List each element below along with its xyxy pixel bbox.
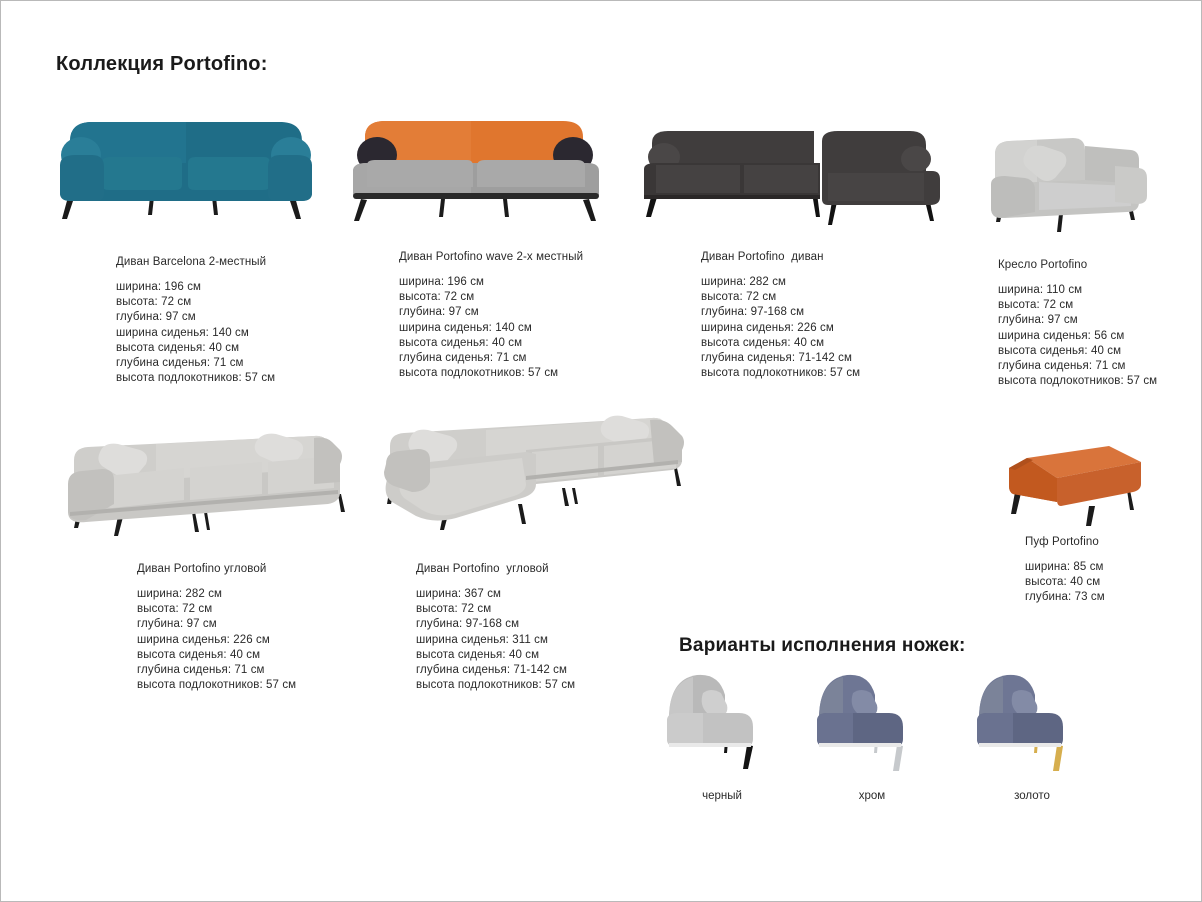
spec-depth: глубина: 97 см [998, 313, 1198, 328]
spec-armrest-height: высота подлокотников: 57 см [998, 374, 1198, 389]
legs-section-title: Варианты исполнения ножек: [679, 635, 966, 657]
product-specs: ширина: 282 см высота: 72 см глубина: 97… [137, 587, 402, 693]
spec-seat-depth: глубина сиденья: 71 см [116, 356, 381, 371]
spec-armrest-height: высота подлокотников: 57 см [137, 678, 402, 693]
product-name: Диван Barcelona 2-местный [116, 256, 381, 268]
spec-height: высота: 72 см [998, 298, 1198, 313]
spec-seat-height: высота сиденья: 40 см [701, 336, 971, 351]
spec-seat-height: высота сиденья: 40 см [116, 341, 381, 356]
spec-depth: глубина: 73 см [1025, 590, 1200, 605]
spec-seat-depth: глубина сиденья: 71 см [998, 359, 1198, 374]
product-card-barcelona-2: Диван Barcelona 2-местный ширина: 196 см… [116, 256, 381, 386]
product-card-portofino-uglovoy-367: Диван Portofino угловой ширина: 367 см в… [416, 563, 681, 693]
page-title: Коллекция Portofino: [56, 53, 268, 76]
spec-depth: глубина: 97-168 см [416, 617, 681, 632]
spec-depth: глубина: 97 см [399, 305, 679, 320]
spec-seat-depth: глубина сиденья: 71-142 см [701, 351, 971, 366]
product-name: Диван Portofino диван [701, 251, 971, 263]
spec-width: ширина: 110 см [998, 283, 1198, 298]
product-name: Диван Portofino wave 2-х местный [399, 251, 679, 263]
spec-height: высота: 40 см [1025, 575, 1200, 590]
spec-seat-depth: глубина сиденья: 71 см [399, 351, 679, 366]
product-specs: ширина: 85 см высота: 40 см глубина: 73 … [1025, 560, 1200, 606]
leg-variant-label: хром [813, 790, 931, 802]
spec-armrest-height: высота подлокотников: 57 см [116, 371, 381, 386]
spec-depth: глубина: 97-168 см [701, 305, 971, 320]
product-specs: ширина: 282 см высота: 72 см глубина: 97… [701, 275, 971, 381]
spec-seat-height: высота сиденья: 40 см [416, 648, 681, 663]
product-image-portofino-uglovoy-282 [56, 416, 356, 541]
spec-height: высота: 72 см [137, 602, 402, 617]
leg-variant-gold-image [973, 669, 1091, 781]
leg-variant-chrome-image [813, 669, 931, 781]
product-specs: ширина: 196 см высота: 72 см глубина: 97… [116, 280, 381, 386]
spec-seat-width: ширина сиденья: 140 см [116, 326, 381, 341]
spec-seat-depth: глубина сиденья: 71-142 см [416, 663, 681, 678]
spec-seat-height: высота сиденья: 40 см [399, 336, 679, 351]
product-name: Кресло Portofino [998, 259, 1198, 271]
spec-width: ширина: 196 см [116, 280, 381, 295]
product-specs: ширина: 367 см высота: 72 см глубина: 97… [416, 587, 681, 693]
product-card-kreslo-portofino: Кресло Portofino ширина: 110 см высота: … [998, 259, 1198, 389]
spec-seat-width: ширина сиденья: 56 см [998, 329, 1198, 344]
product-card-puf-portofino: Пуф Portofino ширина: 85 см высота: 40 с… [1025, 536, 1200, 606]
leg-variant-label: золото [973, 790, 1091, 802]
product-image-puf-portofino [991, 436, 1151, 531]
spec-width: ширина: 196 см [399, 275, 679, 290]
product-image-kreslo-portofino [981, 126, 1156, 236]
leg-variant-black: черный [663, 669, 781, 802]
spec-width: ширина: 85 см [1025, 560, 1200, 575]
spec-height: высота: 72 см [399, 290, 679, 305]
product-card-portofino-uglovoy-282: Диван Portofino угловой ширина: 282 см в… [137, 563, 402, 693]
product-name: Пуф Portofino [1025, 536, 1200, 548]
leg-variant-chrome: хром [813, 669, 931, 802]
product-image-portofino-wave-2 [341, 111, 611, 231]
spec-width: ширина: 282 см [137, 587, 402, 602]
spec-seat-height: высота сиденья: 40 см [137, 648, 402, 663]
product-name: Диван Portofino угловой [416, 563, 681, 575]
product-specs: ширина: 110 см высота: 72 см глубина: 97… [998, 283, 1198, 389]
spec-depth: глубина: 97 см [116, 310, 381, 325]
product-specs: ширина: 196 см высота: 72 см глубина: 97… [399, 275, 679, 381]
leg-variant-label: черный [663, 790, 781, 802]
spec-seat-width: ширина сиденья: 226 см [137, 633, 402, 648]
spec-seat-width: ширина сиденья: 311 см [416, 633, 681, 648]
catalog-page: Коллекция Portofino: Варианты исполнения… [1, 1, 1201, 901]
spec-seat-depth: глубина сиденья: 71 см [137, 663, 402, 678]
spec-seat-height: высота сиденья: 40 см [998, 344, 1198, 359]
spec-seat-width: ширина сиденья: 140 см [399, 321, 679, 336]
spec-seat-width: ширина сиденья: 226 см [701, 321, 971, 336]
leg-variant-gold: золото [973, 669, 1091, 802]
spec-height: высота: 72 см [116, 295, 381, 310]
product-image-barcelona-2 [46, 111, 326, 231]
product-name: Диван Portofino угловой [137, 563, 402, 575]
product-image-portofino-uglovoy-367 [376, 406, 696, 536]
leg-variant-black-image [663, 669, 781, 781]
product-card-portofino-divan: Диван Portofino диван ширина: 282 см выс… [701, 251, 971, 381]
spec-height: высота: 72 см [416, 602, 681, 617]
product-image-portofino-divan [636, 121, 946, 231]
spec-height: высота: 72 см [701, 290, 971, 305]
spec-width: ширина: 367 см [416, 587, 681, 602]
spec-width: ширина: 282 см [701, 275, 971, 290]
spec-armrest-height: высота подлокотников: 57 см [416, 678, 681, 693]
spec-armrest-height: высота подлокотников: 57 см [701, 366, 971, 381]
product-card-portofino-wave-2: Диван Portofino wave 2-х местный ширина:… [399, 251, 679, 381]
spec-armrest-height: высота подлокотников: 57 см [399, 366, 679, 381]
spec-depth: глубина: 97 см [137, 617, 402, 632]
